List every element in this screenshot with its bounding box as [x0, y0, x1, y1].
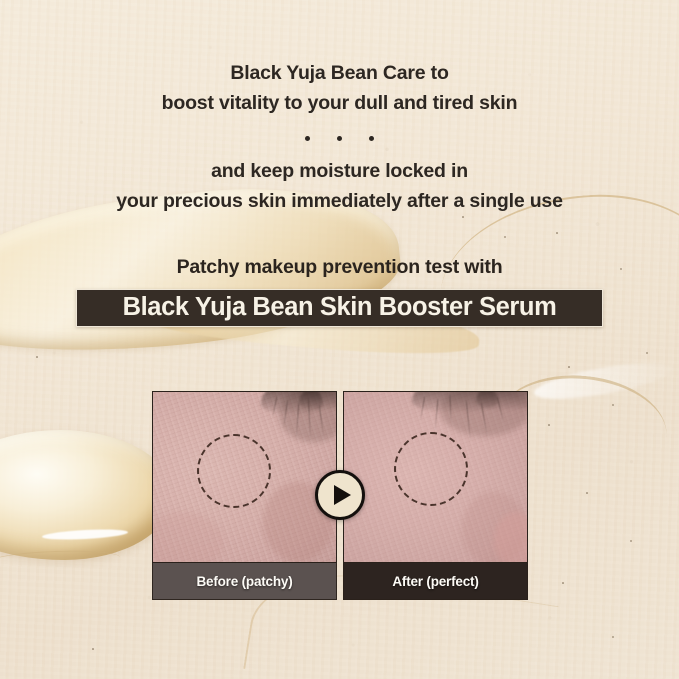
dot-separator	[0, 122, 679, 154]
before-panel[interactable]: Before (patchy)	[152, 391, 337, 600]
texture-speck	[92, 648, 94, 650]
intro-line-1: Black Yuja Bean Care to	[0, 58, 679, 88]
before-marker-circle	[197, 434, 271, 508]
texture-speck	[586, 492, 588, 494]
intro-line-3: and keep moisture locked in	[0, 156, 679, 186]
product-name-banner: Black Yuja Bean Skin Booster Serum	[76, 289, 603, 327]
intro-line-4: your precious skin immediately after a s…	[0, 186, 679, 216]
separator-dot	[369, 136, 374, 141]
before-photo	[152, 391, 337, 563]
intro-copy: Black Yuja Bean Care to boost vitality t…	[0, 58, 679, 216]
hair-wisp	[299, 391, 337, 410]
hair-wisp	[476, 391, 528, 410]
texture-speck	[562, 582, 564, 584]
after-panel[interactable]: After (perfect)	[343, 391, 528, 600]
after-caption: After (perfect)	[343, 563, 528, 600]
before-after-comparison: Before (patchy) After (perfect)	[152, 391, 528, 600]
before-caption: Before (patchy)	[152, 563, 337, 600]
play-icon[interactable]	[315, 470, 365, 520]
intro-line-2: boost vitality to your dull and tired sk…	[0, 88, 679, 118]
texture-speck	[612, 636, 614, 638]
separator-dot	[305, 136, 310, 141]
after-marker-circle	[394, 432, 468, 506]
separator-dot	[337, 136, 342, 141]
texture-speck	[462, 216, 464, 218]
texture-speck	[568, 366, 570, 368]
texture-speck	[630, 540, 632, 542]
texture-speck	[36, 356, 38, 358]
headline-kicker: Patchy makeup prevention test with	[0, 256, 679, 279]
product-detail-image: Black Yuja Bean Care to boost vitality t…	[0, 0, 679, 679]
texture-speck	[646, 352, 648, 354]
after-photo	[343, 391, 528, 563]
play-triangle	[334, 485, 351, 505]
product-name-text: Black Yuja Bean Skin Booster Serum	[123, 295, 557, 321]
